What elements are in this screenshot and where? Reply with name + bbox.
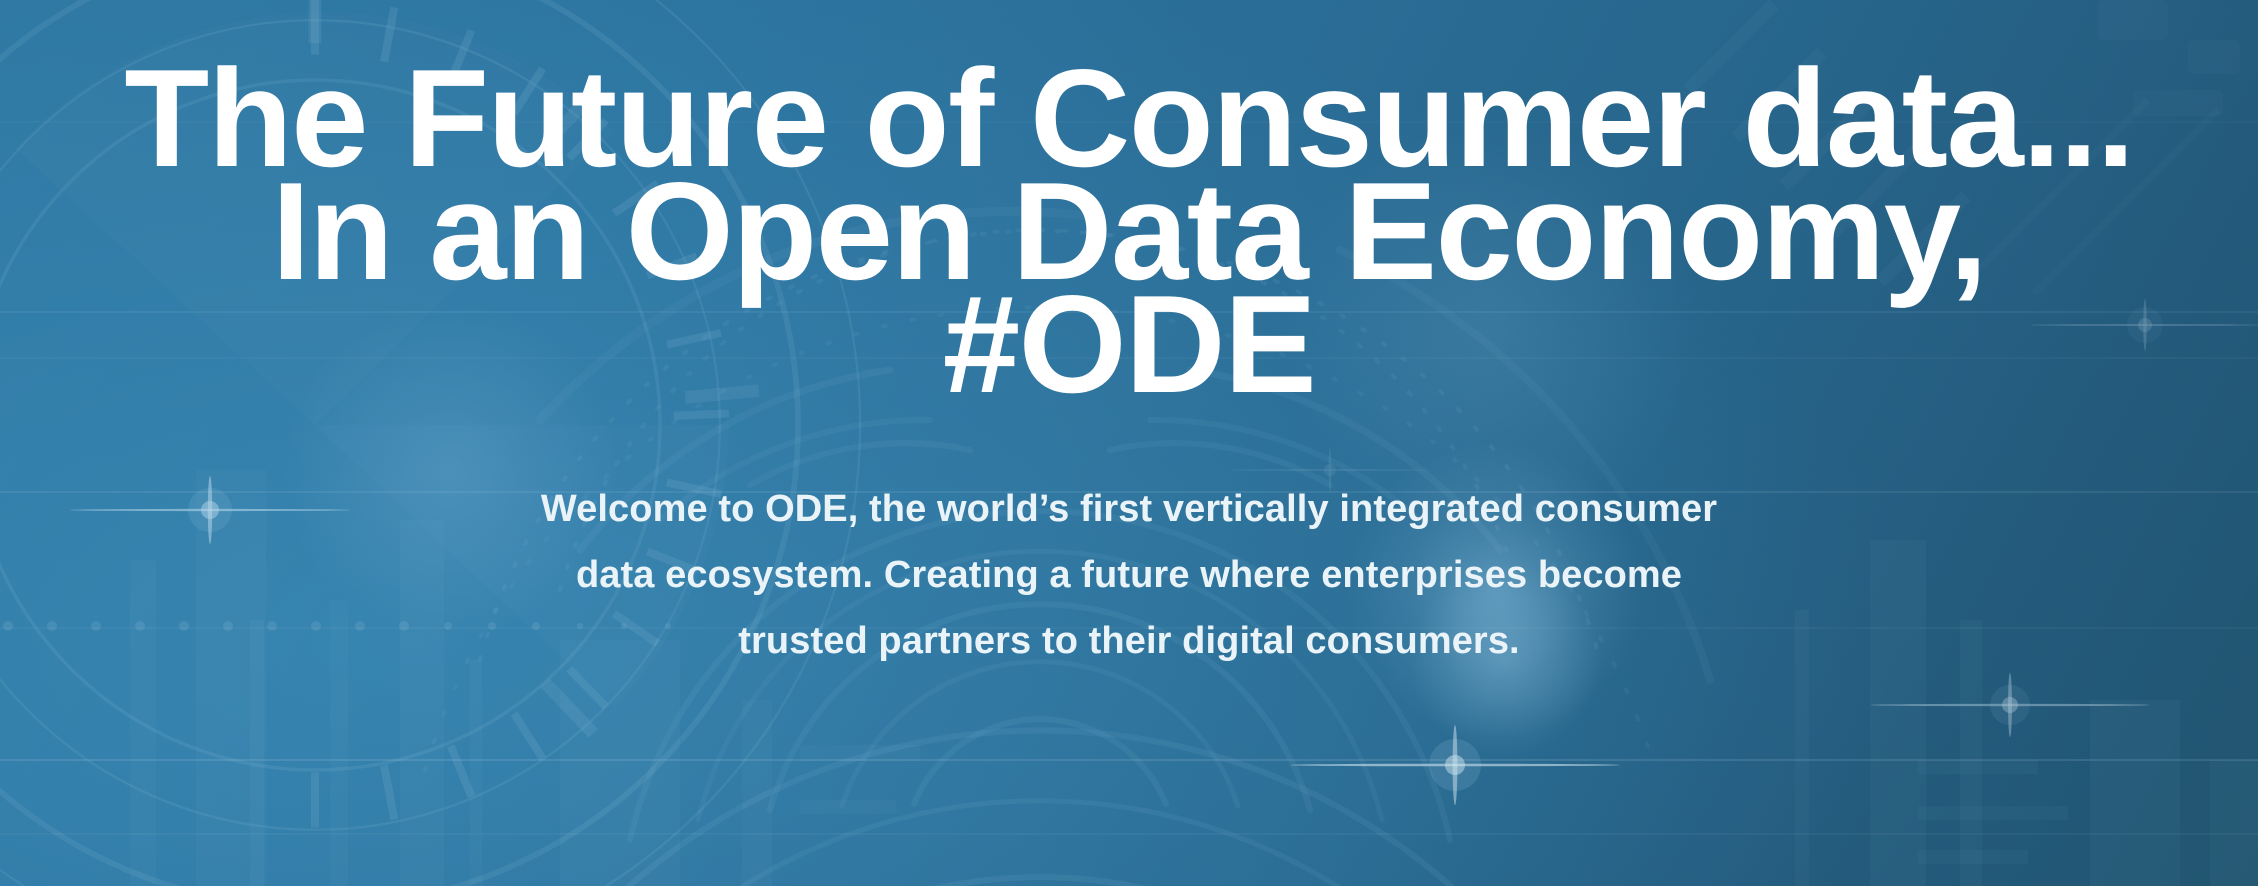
hero-subtitle: Welcome to ODE, the world’s first vertic… xyxy=(539,476,1719,674)
hero-content: The Future of Consumer data... In an Ope… xyxy=(0,0,2258,886)
hero-banner: The Future of Consumer data... In an Ope… xyxy=(0,0,2258,886)
page-title: The Future of Consumer data... In an Ope… xyxy=(0,62,2258,401)
